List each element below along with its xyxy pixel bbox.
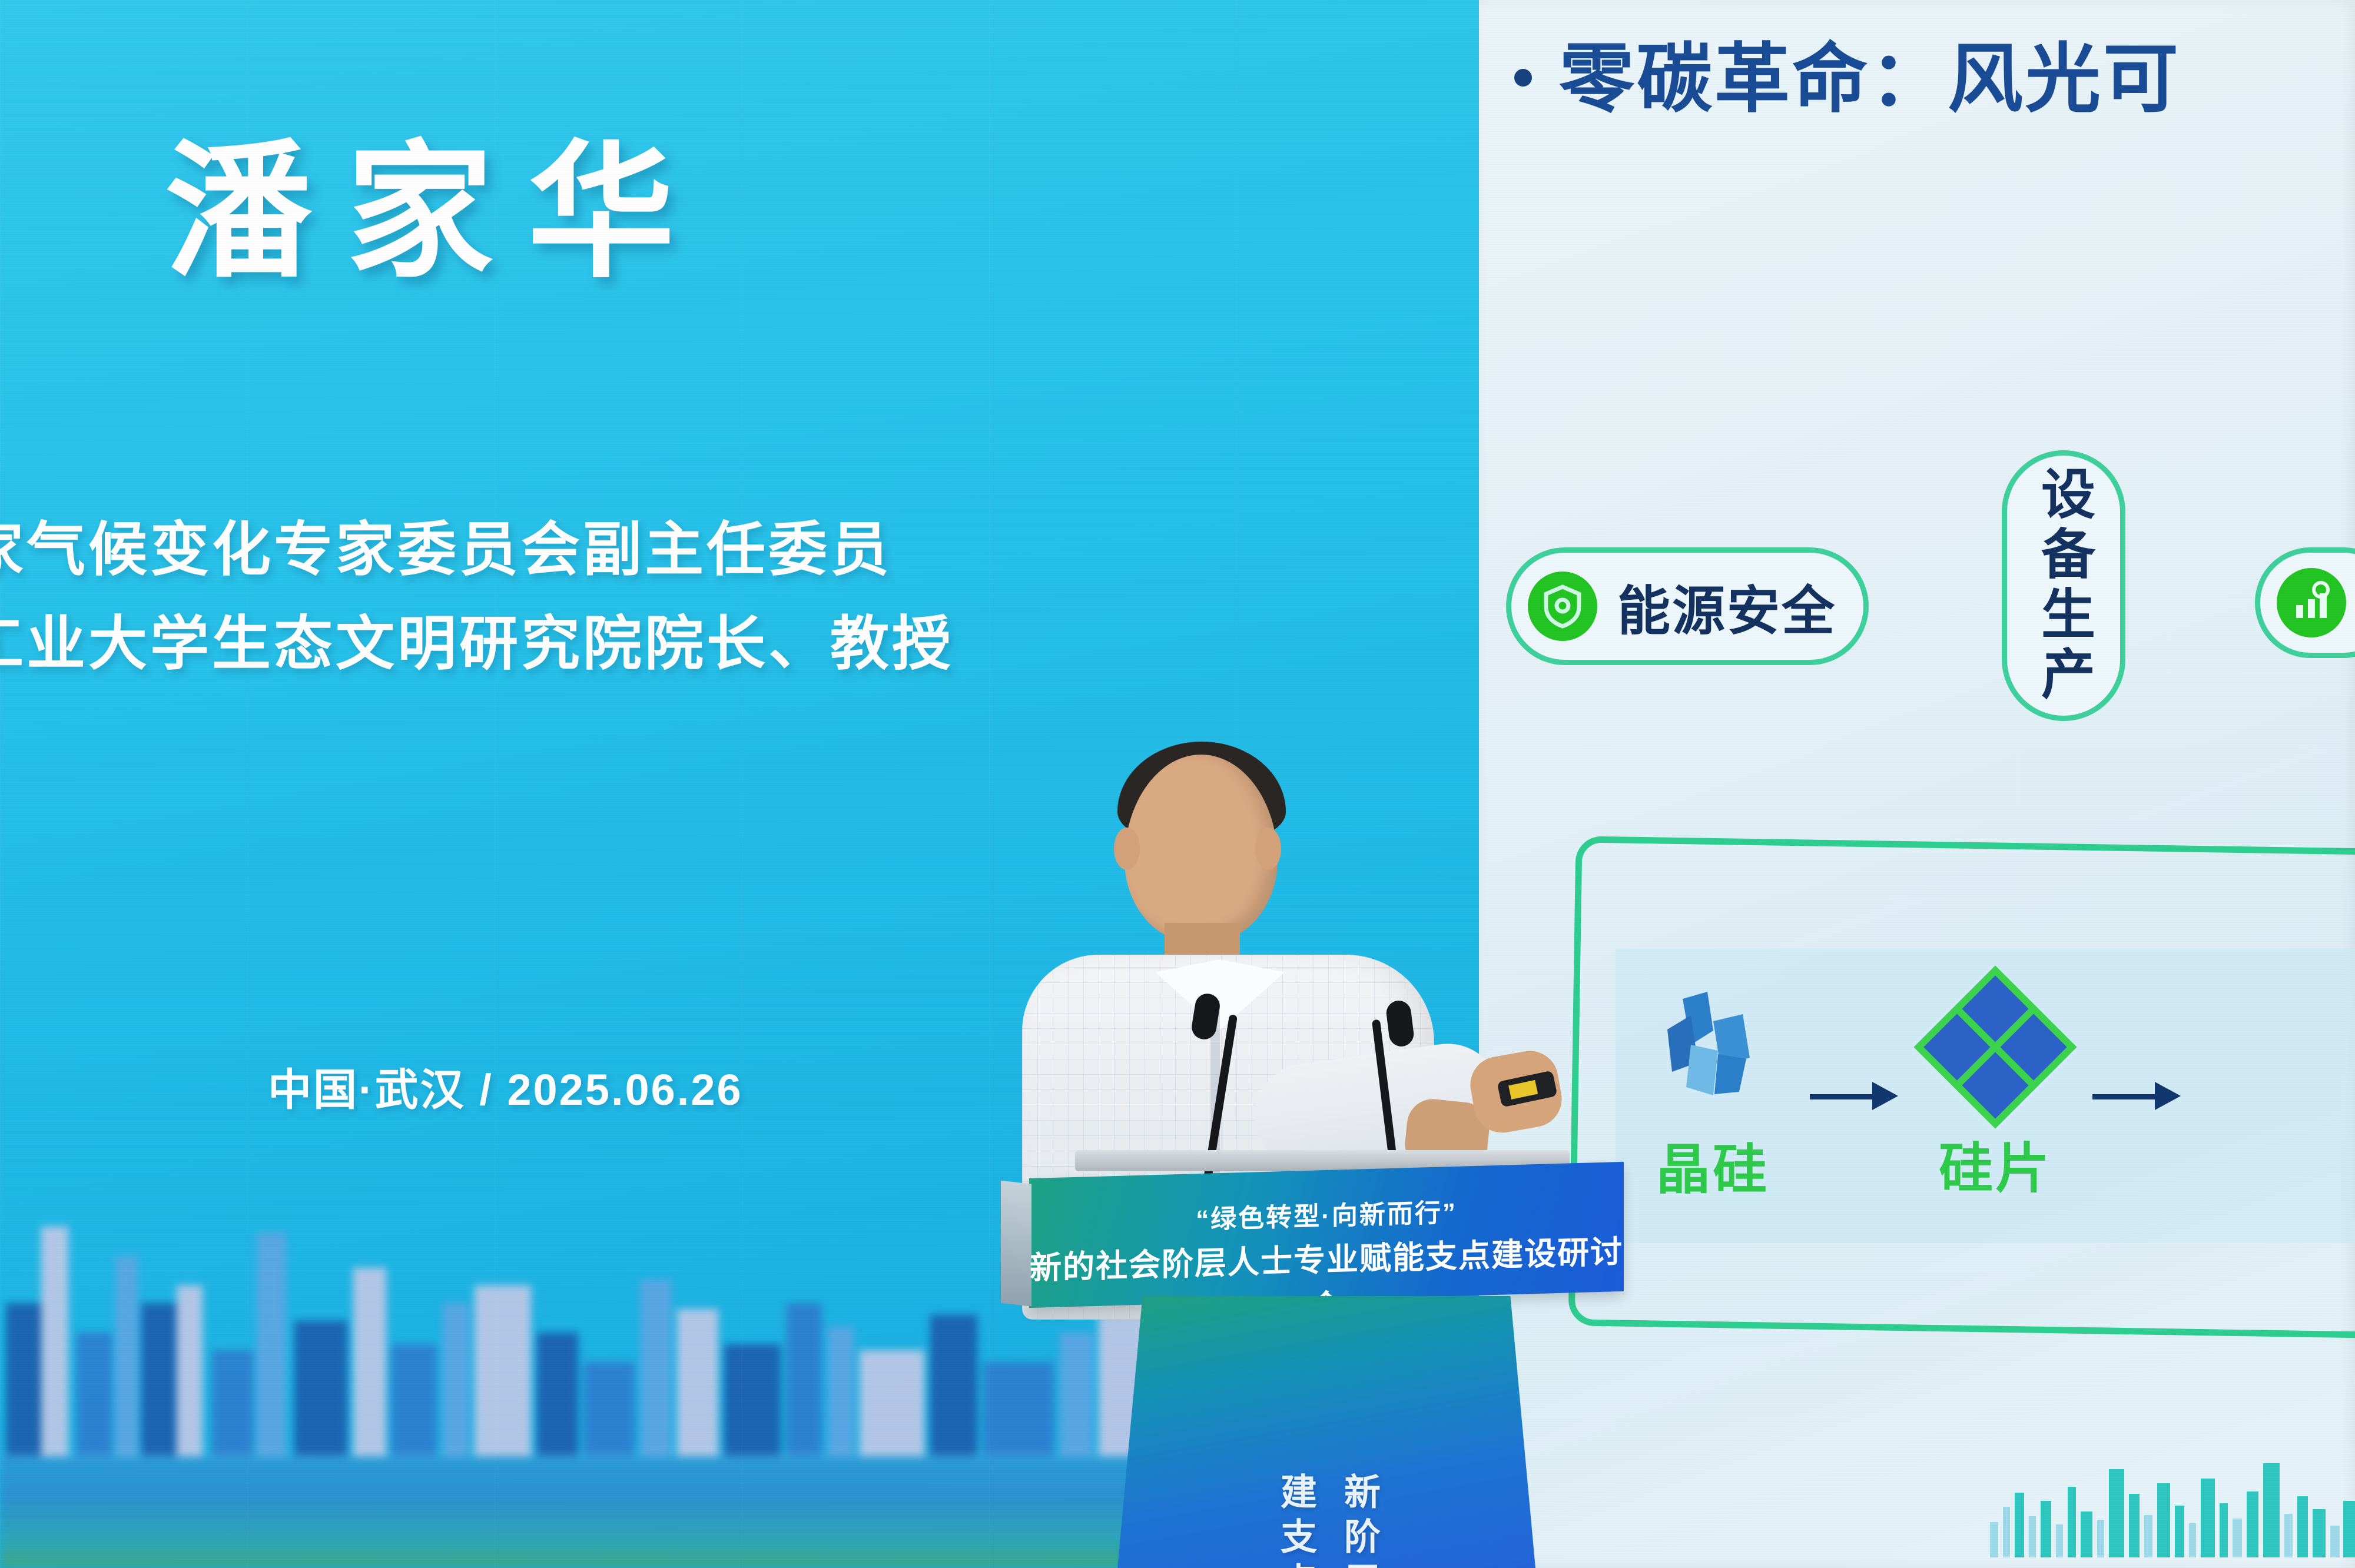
slide-bullet-text: 零碳革命：风光可 [1559,18,2181,127]
venue-and-date-label: 中国·武汉 / 2025.06.26 [268,1055,743,1118]
podium-sign-side-edge [1001,1181,1031,1307]
badge-equipment-production-label: 设备生产 [2025,466,2103,706]
speaker-name-heading: 潘家华 [165,135,709,290]
badge-chart-metric [2255,547,2355,658]
slide-bullet-line: 零碳革命：风光可 [1514,18,2181,127]
podium-sign-panel: “绿色转型·向新而行” 新的社会阶层人士专业赋能支点建设研讨会 [1029,1162,1624,1308]
silicon-rock-icon [1657,988,1769,1106]
podium-slogan-column-right: 新阶层新 [1332,1473,1385,1568]
badge-energy-security-label: 能源安全 [1617,568,1836,645]
bar-chart-icon [2277,568,2346,637]
speaker-title-line-1: 家气候变化专家委员会副主任委员 [0,501,892,587]
wafer-diamond-icon [1913,965,2077,1128]
shield-icon [1528,572,1597,641]
badge-equipment-production: 设备生产 [2002,450,2125,721]
podium-body: 建支点立 新阶层新 [1117,1296,1535,1568]
ear-right [1255,828,1281,870]
process-step-label: 晶硅 [1656,1126,1769,1204]
speaker-podium: “绿色转型·向新而行” 新的社会阶层人士专业赋能支点建设研讨会 建支点立 新阶层… [1029,1160,1624,1568]
podium-slogan-column-left: 建支点立 [1268,1473,1321,1568]
bullet-dot-icon [1514,69,1532,87]
speaker-title-line-2: 工业大学生态文明研究院院长、教授 [0,596,954,681]
badge-energy-security: 能源安全 [1506,547,1869,665]
podium-vertical-slogan: 建支点立 新阶层新 [1117,1473,1535,1568]
process-step-silicon-wafer: 硅片 [1898,989,2092,1203]
arrow-right-icon [2092,1090,2181,1102]
ear-left [1114,828,1140,870]
process-flow-row: 晶硅 硅片 [1616,949,2355,1243]
slide-skyline-graphic [1990,1422,2355,1557]
process-step-crystalline-silicon: 晶硅 [1616,988,1810,1204]
conference-stage-photo: 潘家华 家气候变化专家委员会副主任委员 工业大学生态文明研究院院长、教授 中国·… [0,0,2355,1568]
process-step-label: 硅片 [1939,1125,2052,1203]
arrow-right-icon [1810,1090,1898,1102]
